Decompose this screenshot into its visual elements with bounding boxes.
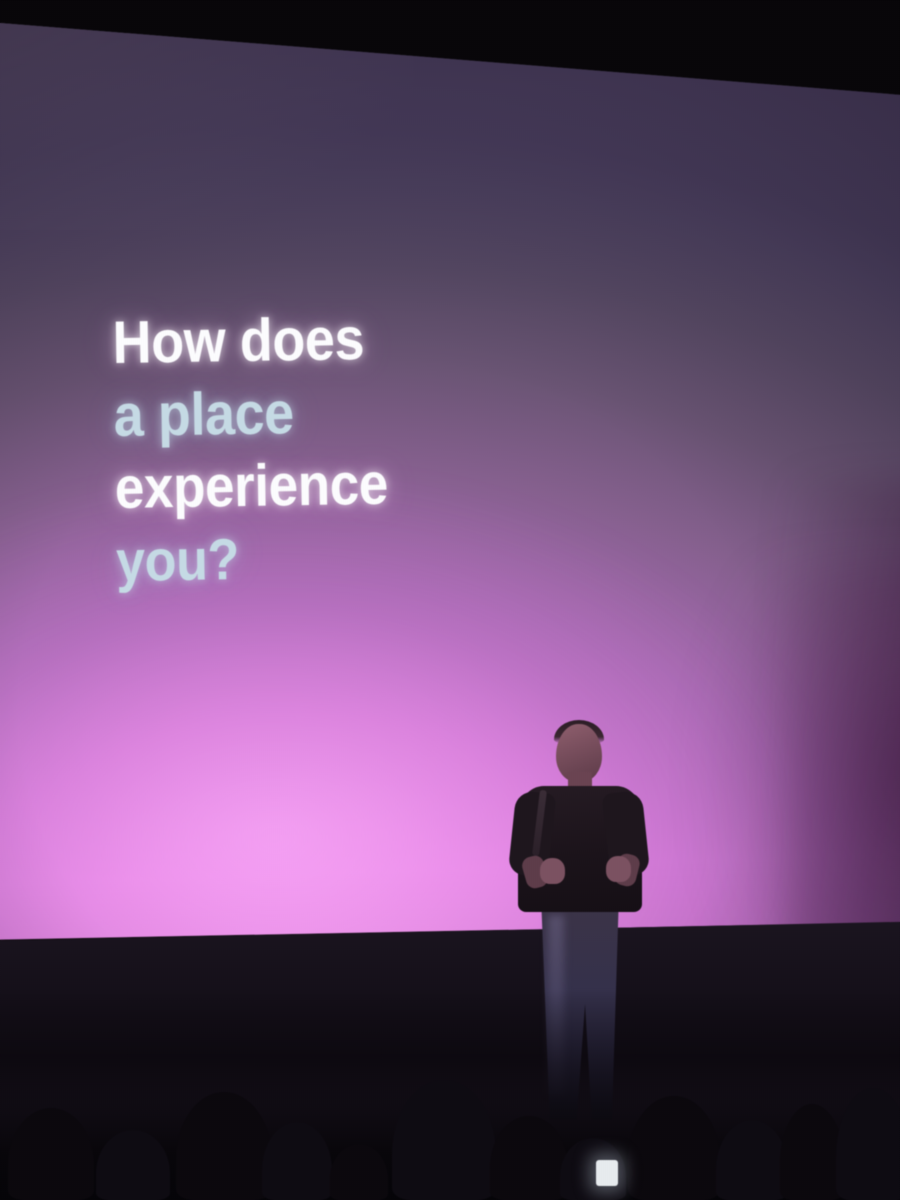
slide-headline: How does a place experience you? [112, 296, 737, 598]
phone-screen-glow [596, 1160, 618, 1186]
audience [0, 990, 900, 1200]
speaker-right-hand [606, 856, 631, 882]
speaker-left-hand [540, 858, 565, 884]
slide-line-4: you? [115, 516, 674, 598]
conference-photo: How does a place experience you? [0, 0, 900, 1200]
slide-line-1: How does [112, 297, 671, 379]
slide-line-2: a place [113, 370, 672, 452]
slide-line-3: experience [114, 443, 673, 525]
